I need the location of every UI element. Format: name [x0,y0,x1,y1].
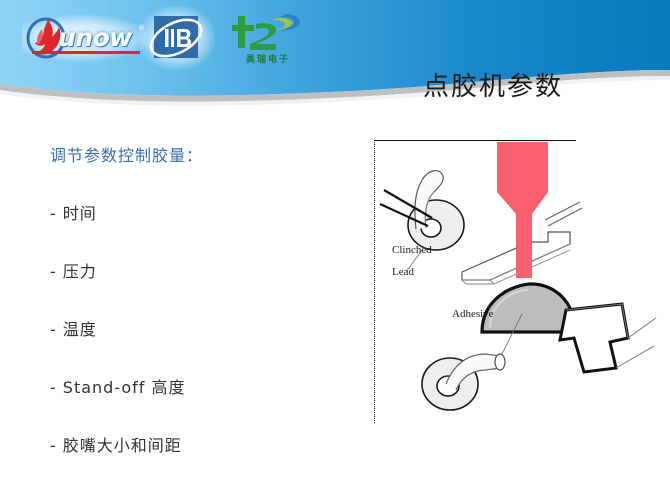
clinched-lead-graphic [380,171,464,272]
list-item: -胶嘴大小和间距 [50,432,350,456]
haorui-logo[interactable]: 昊瑞电子 [228,10,304,68]
bullet-label: Stand-off 高度 [63,378,186,397]
bullet-dash: - [50,436,57,455]
bullet-dash: - [50,262,57,281]
haorui-wordmark: 昊瑞电子 [232,52,304,65]
bullet-list: 调节参数控制胶量： -时间 -压力 -温度 -Stand-off 高度 -胶嘴大… [50,142,350,490]
bullet-dash: - [50,204,57,223]
unow-wordmark: unow [58,23,132,52]
bullet-label: 压力 [63,262,97,281]
bullet-dash: - [50,378,57,397]
nb-mark-icon [145,12,209,64]
list-item: -压力 [50,258,350,282]
logo-strip: unow ® [0,0,670,75]
lead-wires-right [545,202,582,226]
list-item: -时间 [50,200,350,224]
unow-underline [32,51,140,54]
bullet-label: 胶嘴大小和间距 [63,436,182,455]
page-title: 点胶机参数 [378,66,608,103]
haorui-mark-icon [228,10,304,54]
unow-logo[interactable]: unow ® [22,14,152,62]
list-item: -Stand-off 高度 [50,374,350,398]
list-item: -温度 [50,316,350,340]
label-lead: Lead [392,266,414,278]
lead-statement: 调节参数控制胶量： [50,142,350,166]
slide-root: unow ® [0,0,670,502]
bullet-dash: - [50,320,57,339]
label-clinched: Clinched [392,244,432,256]
bullet-label: 时间 [63,204,97,223]
nb-logo[interactable] [145,12,209,64]
bullet-label: 温度 [63,320,97,339]
adhesive-dispensing-diagram: Clinched Lead Adhesive [370,132,665,422]
diagram-artwork [370,132,665,422]
pcb-bracket-right [560,304,656,372]
label-adhesive: Adhesive [452,308,494,320]
